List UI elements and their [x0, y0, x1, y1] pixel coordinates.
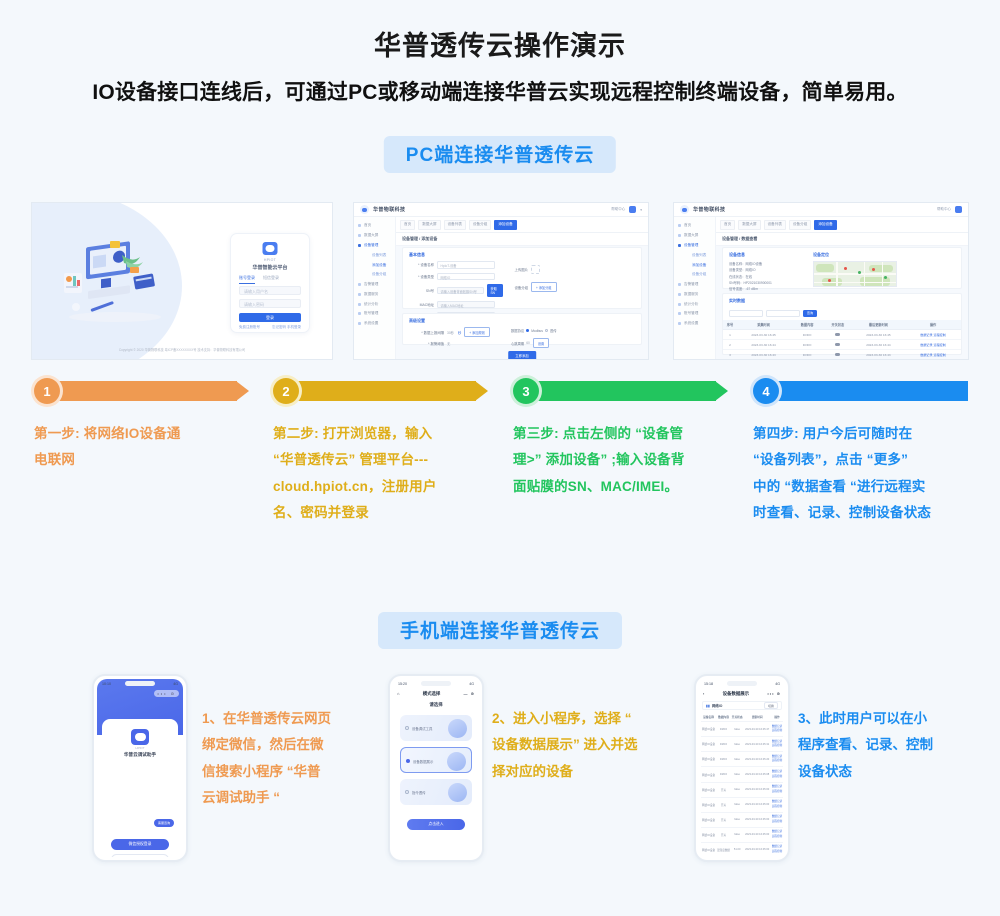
sidebar-item-label: 数据服务 — [684, 292, 698, 297]
sidebar-item-label: 账号管理 — [684, 311, 698, 316]
phone3-header-row: 设备名称数据内容开关状态更新时间操作 — [701, 712, 783, 722]
p3-cell-3: 2023-03-30 16:45:00 — [743, 782, 771, 797]
device-location-map[interactable] — [813, 261, 897, 287]
caption-line-1: 设备数据展示” 进入并选 — [492, 732, 677, 758]
help-center-link[interactable]: 帮助中心 — [611, 207, 625, 212]
advanced-form-right: 数据协议 Modbus 透传 心跳周期 60 设置 — [511, 327, 641, 350]
cell-0: 2 — [723, 340, 737, 350]
phone2-screen: 15:20 4G ⌂ 模式选择 — ⊙ 请选择 设备调试工具设备数据展示指令透传… — [393, 679, 479, 857]
brand-name-2: 华普物联科技 — [693, 206, 725, 213]
signal-icon: ▮▮ — [706, 704, 710, 708]
mode-option-icon — [448, 719, 467, 738]
device-map-title: 设备定位 — [807, 248, 961, 261]
p3-cell-2: false — [731, 767, 743, 782]
p3-col-2: 开关状态 — [731, 712, 743, 722]
control-link[interactable]: 远程控制 — [771, 729, 783, 734]
mobile-step-1-caption: 1、在华普透传云网页绑定微信，然后在微信搜索小程序 “华普云调试助手 “ — [202, 706, 377, 811]
p3-cell-0: 网络IO设备 — [701, 722, 716, 737]
login-title: 华普智能云平台 — [231, 264, 309, 271]
p3-row[interactable]: 网络IO设备DI/DOfalse2023-03-30 16:45:20数据记录远… — [701, 752, 783, 767]
section-badge-pc: PC端连接华普透传云 — [384, 136, 616, 173]
add-rule-button[interactable]: + 添加规则 — [464, 327, 490, 337]
brand-logo-icon — [360, 205, 369, 214]
capsule-more-icon-3[interactable]: ••• ⊙ — [767, 691, 781, 696]
mode-option-icon — [448, 783, 467, 802]
bullet-icon — [358, 283, 361, 286]
phone3-data-table: 设备名称数据内容开关状态更新时间操作 网络IO设备DI/DOfalse2023-… — [701, 712, 783, 857]
radio-modbus[interactable] — [526, 329, 529, 332]
arrow-body — [48, 381, 237, 401]
step-4-arrow: 4 — [753, 378, 968, 404]
phone1-login-card: HPIOT 华普云调试助手 客服咨询 微信授权登录 手机登录 v2.0.1 — [102, 719, 178, 852]
heartbeat-value: 60 — [526, 341, 530, 345]
sidebar-item-label: 设备管理 — [364, 243, 378, 248]
cell-update: 2023-03-30 16:45 — [852, 330, 905, 340]
get-sn-button[interactable]: 获取SN — [487, 284, 503, 297]
sidebar-item-0[interactable]: 首页 — [354, 221, 395, 231]
mode-option-label: 设备数据展示 — [413, 759, 433, 764]
phone1-notch — [125, 681, 155, 686]
col-header-0: 序号 — [723, 320, 737, 330]
tab-sms-login[interactable]: 短信登录 — [263, 275, 279, 284]
app-brand-sub: HPIOT — [102, 746, 178, 750]
console-tab-2[interactable]: 设备列表 — [764, 220, 786, 230]
col-header-3: 开关状态 — [824, 320, 852, 330]
sidebar-item-label: 首页 — [684, 223, 691, 228]
phone2-notch — [421, 681, 451, 686]
selected-device-name: 网络IO — [712, 703, 722, 708]
p3-row[interactable]: 网络IO设备DI/DOfalse2023-03-30 16:45:47数据记录远… — [701, 722, 783, 737]
p3-cell-0: 网络IO设备 — [701, 737, 716, 752]
step-number-badge: 3 — [513, 378, 539, 404]
p3-row[interactable]: 网络IO设备开关false2023-03-30 16:45:00数据记录远程控制 — [701, 782, 783, 797]
login-footer: Copyright © 2020 华普物联科技 粤ICP备XXXXXXXX号 技… — [32, 348, 332, 353]
username-input[interactable]: 请输入用户名 — [239, 286, 301, 295]
sidebar-item-9[interactable]: 账号管理 — [354, 309, 395, 319]
register-link[interactable]: 免费注册账号 — [239, 325, 260, 330]
caption-line-2: 择对应的设备 — [492, 759, 677, 785]
console-sidebar-2: 首页数据大屏设备管理设备列表添加设备设备分组告警管理数据服务统计分析账号管理系统… — [674, 217, 716, 359]
radio-transparent[interactable] — [545, 329, 548, 332]
sidebar-item-2[interactable]: 设备管理 — [674, 241, 715, 251]
cell-2: DI/DO — [790, 330, 824, 340]
toggle-switch[interactable] — [835, 333, 840, 336]
phone-login-button[interactable]: 手机登录 — [111, 854, 169, 857]
brand-logo-icon-2 — [680, 205, 689, 214]
avatar-2[interactable] — [955, 206, 962, 213]
open-tabs: 首页数据大屏设备列表设备分组添加设备 — [396, 217, 648, 233]
customer-service-bubble[interactable]: 客服咨询 — [154, 819, 174, 827]
p3-cell-actions[interactable]: 数据记录远程控制 — [771, 782, 783, 797]
sidebar-item-1[interactable]: 数据大屏 — [354, 231, 395, 241]
step-3-caption: 第三步: 点击左侧的 “设备管理>” 添加设备” ;输入设备背面贴膜的SN、MA… — [513, 421, 733, 500]
sidebar-item-label: 设备列表 — [692, 253, 706, 258]
cell-0: 1 — [723, 330, 737, 340]
protocol-option-1[interactable]: Modbus — [531, 329, 543, 333]
p3-cell-actions[interactable]: 数据记录远程控制 — [771, 767, 783, 782]
cell-update: 2023-03-30 16:44 — [852, 340, 905, 350]
arrow-bar — [527, 381, 728, 401]
p3-cell-1: DI/DO — [716, 752, 731, 767]
tab-account-login[interactable]: 账号登录 — [239, 275, 255, 284]
toggle-switch[interactable] — [835, 353, 840, 356]
col-header-2: 数据内容 — [790, 320, 824, 330]
page-title: 华普透传云操作演示 — [0, 24, 1000, 63]
caption-line-0: 第一步: 将网络IO设备通 — [34, 421, 254, 447]
col-header-1: 采集时间 — [737, 320, 790, 330]
submit-add-device-button[interactable]: 立即添加 — [508, 351, 536, 360]
table-row[interactable]: 22023-03-30 16:44DI/DO2023-03-30 16:44数据… — [723, 340, 961, 350]
phone-mockup-data-list: 15:18 4G ‹ 设备数据展示 ••• ⊙ ▮▮ 网络IO 切换 设备名称数… — [694, 674, 790, 862]
help-center-link-2[interactable]: 帮助中心 — [937, 207, 951, 212]
sidebar-item-8[interactable]: 统计分析 — [674, 299, 715, 309]
p3-cell-1: 开关 — [716, 797, 731, 812]
arrow-head — [715, 381, 728, 401]
p3-col-4: 操作 — [771, 712, 783, 722]
sidebar-item-1[interactable]: 数据大屏 — [674, 231, 715, 241]
form-label-2: SN号 — [403, 288, 437, 293]
sidebar-item-label: 设备分组 — [372, 272, 386, 277]
p3-cell-1: DI/DO — [716, 767, 731, 782]
password-input[interactable]: 请输入密码 — [239, 299, 301, 308]
console-main-2: 首页数据大屏设备列表设备分组添加设备 设备管理 / 数据查看 设备信息 设备名称… — [716, 217, 968, 359]
forgot-password-link[interactable]: 忘记密码 手机登录 — [272, 325, 301, 330]
sidebar-item-label: 数据大屏 — [364, 233, 378, 238]
control-link[interactable]: 远程控制 — [771, 820, 783, 825]
bullet-icon — [678, 283, 681, 286]
p3-cell-1: 温湿度数据 — [716, 842, 731, 857]
console-tab-3[interactable]: 设备分组 — [789, 220, 811, 230]
search-button[interactable]: 查询 — [803, 310, 817, 317]
sidebar-item-7[interactable]: 数据服务 — [674, 289, 715, 299]
form-row-0: * 设备名称HpIoT-设备 — [403, 261, 503, 269]
nav-title-2: 模式选择 — [399, 691, 463, 697]
phone-mockup-mode-select: 15:20 4G ⌂ 模式选择 — ⊙ 请选择 设备调试工具设备数据展示指令透传… — [388, 674, 484, 862]
arrow-head — [475, 381, 488, 401]
p3-row[interactable]: 网络IO设备开关false2023-03-30 16:45:00数据记录远程控制 — [701, 827, 783, 842]
form-row-3: MAC地址请输入MAC地址 — [403, 301, 503, 309]
section-badge-mobile: 手机端连接华普透传云 — [378, 612, 622, 649]
step-2-arrow: 2 — [273, 378, 488, 404]
heartbeat-set-button[interactable]: 设置 — [533, 338, 549, 348]
p3-cell-3: 2023-03-30 16:45:08 — [743, 767, 771, 782]
sidebar-item-4[interactable]: 添加设备 — [674, 260, 715, 270]
p3-row[interactable]: 网络IO设备温湿度数据51.002023-03-30 16:45:00数据记录远… — [701, 842, 783, 857]
arrow-body — [287, 381, 476, 401]
caption-line-2: 设备状态 — [798, 759, 973, 785]
breadcrumb: 设备管理 / 添加设备 — [396, 233, 648, 246]
avatar[interactable] — [629, 206, 636, 213]
p3-cell-2: false — [731, 812, 743, 827]
adv-unit-0: 秒 — [458, 330, 461, 335]
bullet-icon — [358, 224, 361, 227]
bullet-icon — [358, 234, 361, 237]
sidebar-item-0[interactable]: 首页 — [674, 221, 715, 231]
control-link[interactable]: 远程控制 — [771, 835, 783, 840]
control-link[interactable]: 远程控制 — [771, 790, 783, 795]
p3-cell-actions[interactable]: 数据记录远程控制 — [771, 842, 783, 857]
adv-row-0: * 数据上报间隔30秒秒+ 添加规则 — [403, 327, 511, 337]
sidebar-item-2[interactable]: 设备管理 — [354, 241, 395, 251]
cell-actions[interactable]: 数据记录 远程控制 — [905, 330, 961, 340]
cell-1: 2023-03-30 16:44 — [737, 340, 790, 350]
bullet-icon — [358, 244, 361, 247]
adv-label-0: * 数据上报间隔 — [403, 330, 447, 335]
phone-mockup-login: 10:10 4G ••• ⊙ HPIOT 华普云调试助手 客服咨询 微信授权登录… — [92, 674, 188, 862]
sidebar-item-7[interactable]: 数据服务 — [354, 289, 395, 299]
realtime-data-title: 实时数据 — [723, 294, 961, 307]
adv-value-1: 无 — [447, 341, 450, 346]
mode-option-1[interactable]: 设备数据展示 — [400, 747, 472, 773]
sidebar-item-6[interactable]: 告警管理 — [354, 280, 395, 290]
bullet-icon — [678, 322, 681, 325]
console-tab-1[interactable]: 数据大屏 — [738, 220, 760, 230]
p3-cell-2: false — [731, 737, 743, 752]
p3-cell-actions[interactable]: 数据记录远程控制 — [771, 752, 783, 767]
mode-option-0[interactable]: 设备调试工具 — [400, 715, 472, 741]
sidebar-item-6[interactable]: 告警管理 — [674, 280, 715, 290]
cell-actions[interactable]: 数据记录 远程控制 — [905, 350, 961, 360]
advanced-form: * 数据上报间隔30秒秒+ 添加规则* 报警阈值无 — [403, 327, 511, 350]
sidebar-item-3[interactable]: 设备列表 — [354, 250, 395, 260]
date-range-input[interactable] — [766, 310, 800, 317]
protocol-option-2[interactable]: 透传 — [550, 328, 557, 333]
p3-cell-3: 2023-03-30 16:45:47 — [743, 722, 771, 737]
cell-switch[interactable] — [824, 350, 852, 360]
login-page-background: HPIOT 华普智能云平台 账号登录 短信登录 请输入用户名 请输入密码 登录 … — [32, 203, 332, 359]
p3-cell-actions[interactable]: 数据记录远程控制 — [771, 812, 783, 827]
sidebar-item-label: 设备列表 — [372, 253, 386, 258]
p3-cell-1: 开关 — [716, 812, 731, 827]
device-info-title: 设备信息 — [723, 248, 807, 261]
add-group-button[interactable]: + 添加分组 — [531, 282, 557, 292]
phone1-screen: 10:10 4G ••• ⊙ HPIOT 华普云调试助手 客服咨询 微信授权登录… — [97, 679, 183, 857]
mode-option-label: 指令透传 — [412, 790, 426, 795]
mode-option-2[interactable]: 指令透传 — [400, 779, 472, 805]
p3-cell-1: 开关 — [716, 782, 731, 797]
caption-line-0: 3、此时用户可以在小 — [798, 706, 973, 732]
sidebar-item-label: 账号管理 — [364, 311, 378, 316]
sidebar-item-5[interactable]: 设备分组 — [674, 270, 715, 280]
p3-col-0: 设备名称 — [701, 712, 716, 722]
form-input-2[interactable]: 请输入设备背面贴膜SN号 — [437, 287, 484, 295]
heartbeat-label: 心跳周期 — [511, 341, 524, 346]
sidebar-item-10[interactable]: 系统设置 — [674, 319, 715, 329]
p3-row[interactable]: 网络IO设备DI/DOfalse2023-03-30 16:45:08数据记录远… — [701, 767, 783, 782]
console-tab-2[interactable]: 设备列表 — [444, 220, 466, 230]
screenshot-add-device-page: 华普物联科技 帮助中心 ▾ 首页数据大屏设备管理设备列表添加设备设备分组告警管理… — [353, 202, 649, 360]
p3-cell-2: false — [731, 752, 743, 767]
keyword-input[interactable] — [729, 310, 763, 317]
capsule-more-icon[interactable]: — ⊙ — [464, 691, 475, 696]
adv-label-1: * 报警阈值 — [403, 341, 447, 346]
sidebar-item-label: 数据大屏 — [684, 233, 698, 238]
console-tab-0[interactable]: 首页 — [720, 220, 735, 230]
caption-line-1: 程序查看、记录、控制 — [798, 732, 973, 758]
console-tab-1[interactable]: 数据大屏 — [418, 220, 440, 230]
sidebar-item-label: 统计分析 — [364, 302, 378, 307]
col-header-4: 最后更新时间 — [852, 320, 905, 330]
cell-switch[interactable] — [824, 340, 852, 350]
status-signal-2: 4G — [469, 682, 474, 686]
form-label-1: * 设备类型 — [403, 274, 437, 279]
table-body: 12023-03-30 16:45DI/DO2023-03-30 16:45数据… — [723, 330, 961, 360]
p3-cell-2: false — [731, 722, 743, 737]
control-link[interactable]: 远程控制 — [771, 759, 783, 764]
caption-line-0: 第二步: 打开浏览器，输入 — [273, 421, 493, 447]
p3-col-3: 更新时间 — [743, 712, 771, 722]
sidebar-item-10[interactable]: 系统设置 — [354, 319, 395, 329]
bullet-icon — [358, 322, 361, 325]
screenshot-device-data-page: 华普物联科技 帮助中心 首页数据大屏设备管理设备列表添加设备设备分组告警管理数据… — [673, 202, 969, 360]
app-name: 华普云调试助手 — [102, 752, 178, 758]
sidebar-item-label: 添加设备 — [692, 263, 706, 268]
bullet-icon — [358, 312, 361, 315]
phone3-screen: 15:18 4G ‹ 设备数据展示 ••• ⊙ ▮▮ 网络IO 切换 设备名称数… — [699, 679, 785, 857]
caption-line-3: 名、密码并登录 — [273, 500, 493, 526]
caption-line-0: 2、进入小程序，选择 “ — [492, 706, 677, 732]
sidebar-item-8[interactable]: 统计分析 — [354, 299, 395, 309]
sidebar-item-label: 设备分组 — [692, 272, 706, 277]
sidebar-item-5[interactable]: 设备分组 — [354, 270, 395, 280]
radio-icon[interactable] — [405, 726, 409, 730]
radio-icon[interactable] — [405, 790, 409, 794]
breadcrumb-2: 设备管理 / 数据查看 — [716, 233, 968, 246]
step-number-badge: 1 — [34, 378, 60, 404]
p3-cell-3: 2023-03-30 16:45:31 — [743, 737, 771, 752]
chevron-down-icon[interactable]: ▾ — [640, 208, 642, 212]
protocol-label: 数据协议 — [511, 328, 524, 333]
p3-cell-2: false — [731, 827, 743, 842]
miniprogram-capsule-button[interactable]: ••• ⊙ — [154, 690, 179, 697]
table-row[interactable]: 12023-03-30 16:45DI/DO2023-03-30 16:45数据… — [723, 330, 961, 340]
adv-value-0: 30秒 — [447, 330, 454, 335]
upload-image-box[interactable] — [531, 265, 540, 274]
p3-cell-actions[interactable]: 数据记录远程控制 — [771, 827, 783, 842]
step-2-caption: 第二步: 打开浏览器，输入“华普透传云” 管理平台---cloud.hpiot.… — [273, 421, 493, 526]
arrow-bar — [287, 381, 488, 401]
login-brand-sub: HPIOT — [231, 258, 309, 262]
toggle-switch[interactable] — [835, 343, 840, 346]
status-time-2: 15:20 — [398, 682, 407, 686]
control-link[interactable]: 远程控制 — [771, 850, 783, 855]
caption-line-0: 第三步: 点击左侧的 “设备管 — [513, 421, 733, 447]
login-card: HPIOT 华普智能云平台 账号登录 短信登录 请输入用户名 请输入密码 登录 … — [230, 233, 310, 333]
form-label-0: * 设备名称 — [403, 262, 437, 267]
caption-line-2: 面贴膜的SN、MAC/IMEI。 — [513, 474, 733, 500]
sidebar-item-label: 告警管理 — [684, 282, 698, 287]
nav-title-3: 设备数据展示 — [704, 691, 767, 697]
step-number-badge: 2 — [273, 378, 299, 404]
caption-line-2: 中的 “数据查看 “进行远程实 — [753, 474, 973, 500]
control-link[interactable]: 远程控制 — [771, 775, 783, 780]
p3-cell-0: 网络IO设备 — [701, 842, 716, 857]
record-link[interactable]: 数据记录 — [771, 785, 783, 790]
form-input-0[interactable]: HpIoT-设备 — [437, 261, 495, 269]
caption-line-2: cloud.hpiot.cn，注册用户 — [273, 474, 493, 500]
topbar-right: 帮助中心 ▾ — [611, 206, 642, 213]
p3-row[interactable]: 网络IO设备DI/DOfalse2023-03-30 16:45:31数据记录远… — [701, 737, 783, 752]
cell-switch[interactable] — [824, 330, 852, 340]
radio-icon[interactable] — [406, 759, 410, 763]
cell-0: 3 — [723, 350, 737, 360]
device-group-label: 设备分组 — [503, 285, 531, 290]
wechat-auth-login-button[interactable]: 微信授权登录 — [111, 839, 169, 850]
p3-cell-actions[interactable]: 数据记录远程控制 — [771, 722, 783, 737]
caption-line-1: 理>” 添加设备” ;输入设备背 — [513, 447, 733, 473]
status-time-3: 15:18 — [704, 682, 713, 686]
cell-update: 2023-03-30 16:43 — [852, 350, 905, 360]
panel-basic-info: 基本信息 * 设备名称HpIoT-设备* 设备类型网络IOSN号请输入设备背面贴… — [402, 247, 642, 309]
enter-button[interactable]: 点击进入 — [407, 819, 465, 830]
form-row-2: SN号请输入设备背面贴膜SN号获取SN — [403, 284, 503, 297]
console-topbar-2: 华普物联科技 帮助中心 — [674, 203, 968, 217]
form-input-1[interactable]: 网络IO — [437, 273, 495, 281]
device-selector-bar[interactable]: ▮▮ 网络IO 切换 — [702, 701, 782, 710]
topbar-right-2: 帮助中心 — [937, 206, 962, 213]
open-tabs-2: 首页数据大屏设备列表设备分组添加设备 — [716, 217, 968, 233]
sidebar-item-3[interactable]: 设备列表 — [674, 250, 715, 260]
table-row[interactable]: 32023-03-30 16:43DI/DO2023-03-30 16:43数据… — [723, 350, 961, 360]
bullet-icon — [678, 224, 681, 227]
console-tab-0[interactable]: 首页 — [400, 220, 415, 230]
login-button[interactable]: 登录 — [239, 313, 301, 322]
switch-device-button[interactable]: 切换 — [764, 702, 778, 709]
p3-cell-actions[interactable]: 数据记录远程控制 — [771, 737, 783, 752]
sidebar-item-9[interactable]: 账号管理 — [674, 309, 715, 319]
login-illustration — [60, 239, 170, 325]
p3-cell-0: 网络IO设备 — [701, 812, 716, 827]
form-input-3[interactable]: 请输入MAC地址 — [437, 301, 495, 309]
sidebar-item-label: 数据服务 — [364, 292, 378, 297]
realtime-data-table: 序号采集时间数据内容开关状态最后更新时间操作 12023-03-30 16:45… — [723, 320, 961, 360]
console-tab-4[interactable]: 添加设备 — [494, 220, 516, 230]
control-link[interactable]: 远程控制 — [771, 805, 783, 810]
console-tab-4[interactable]: 添加设备 — [814, 220, 836, 230]
control-link[interactable]: 远程控制 — [771, 744, 783, 749]
p3-cell-actions[interactable]: 数据记录远程控制 — [771, 797, 783, 812]
p3-cell-2: false — [731, 797, 743, 812]
bullet-icon — [678, 293, 681, 296]
upload-image-label: 上传图片 — [503, 267, 531, 272]
p3-row[interactable]: 网络IO设备开关false2023-03-30 16:45:00数据记录远程控制 — [701, 812, 783, 827]
sidebar-item-label: 系统设置 — [684, 321, 698, 326]
bullet-icon — [678, 303, 681, 306]
record-link[interactable]: 数据记录 — [771, 770, 783, 775]
p3-row[interactable]: 网络IO设备开关false2023-03-30 16:45:00数据记录远程控制 — [701, 797, 783, 812]
panel-realtime-data: 实时数据 查询 序号采集时间数据内容开关状态最后更新时间操作 12023-03-… — [722, 293, 962, 355]
bullet-icon — [358, 293, 361, 296]
phone3-navbar: ‹ 设备数据展示 ••• ⊙ — [699, 688, 785, 699]
console-main: 首页数据大屏设备列表设备分组添加设备 设备管理 / 添加设备 基本信息 * 设备… — [396, 217, 648, 359]
arrow-head — [236, 381, 249, 401]
table-header-row: 序号采集时间数据内容开关状态最后更新时间操作 — [723, 320, 961, 330]
caption-line-3: 云调试助手 “ — [202, 785, 377, 811]
poster-root: 华普透传云操作演示 IO设备接口连线后，可通过PC或移动端连接华普云实现远程控制… — [0, 0, 1000, 916]
arrow-body — [527, 381, 716, 401]
caption-line-2: 信搜索小程序 “华普 — [202, 759, 377, 785]
console-tab-3[interactable]: 设备分组 — [469, 220, 491, 230]
arrow-bar — [767, 381, 968, 401]
cell-actions[interactable]: 数据记录 远程控制 — [905, 340, 961, 350]
sidebar-item-4[interactable]: 添加设备 — [354, 260, 395, 270]
console-sidebar: 首页数据大屏设备管理设备列表添加设备设备分组告警管理数据服务统计分析账号管理系统… — [354, 217, 396, 359]
step-number-badge: 4 — [753, 378, 779, 404]
step-1-arrow: 1 — [34, 378, 249, 404]
step-1-caption: 第一步: 将网络IO设备通电联网 — [34, 421, 254, 474]
sidebar-item-label: 设备管理 — [684, 243, 698, 248]
p3-cell-1: DI/DO — [716, 722, 731, 737]
